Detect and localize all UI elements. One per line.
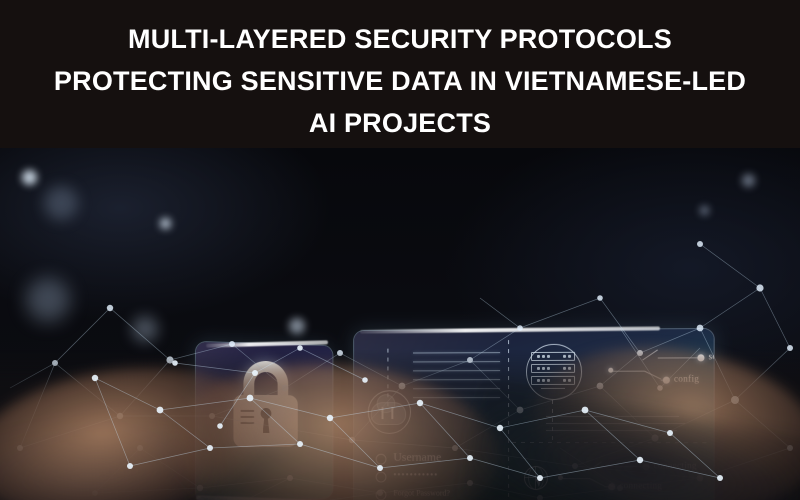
bokeh-light	[22, 170, 37, 185]
page-title: Multi-Layered Security Protocols Protect…	[0, 18, 800, 144]
bokeh-light	[160, 218, 171, 229]
screenshot-root: Username ••••••••••• Forgot Password? se…	[0, 0, 800, 500]
bokeh-light	[700, 206, 709, 215]
bokeh-light	[132, 316, 158, 342]
bokeh-light	[26, 278, 70, 322]
hero-image: Username ••••••••••• Forgot Password? se…	[0, 148, 800, 500]
title-banner: Multi-Layered Security Protocols Protect…	[0, 0, 800, 148]
bokeh-light	[289, 318, 305, 334]
bokeh-light	[742, 174, 755, 187]
bokeh-light	[44, 186, 78, 220]
